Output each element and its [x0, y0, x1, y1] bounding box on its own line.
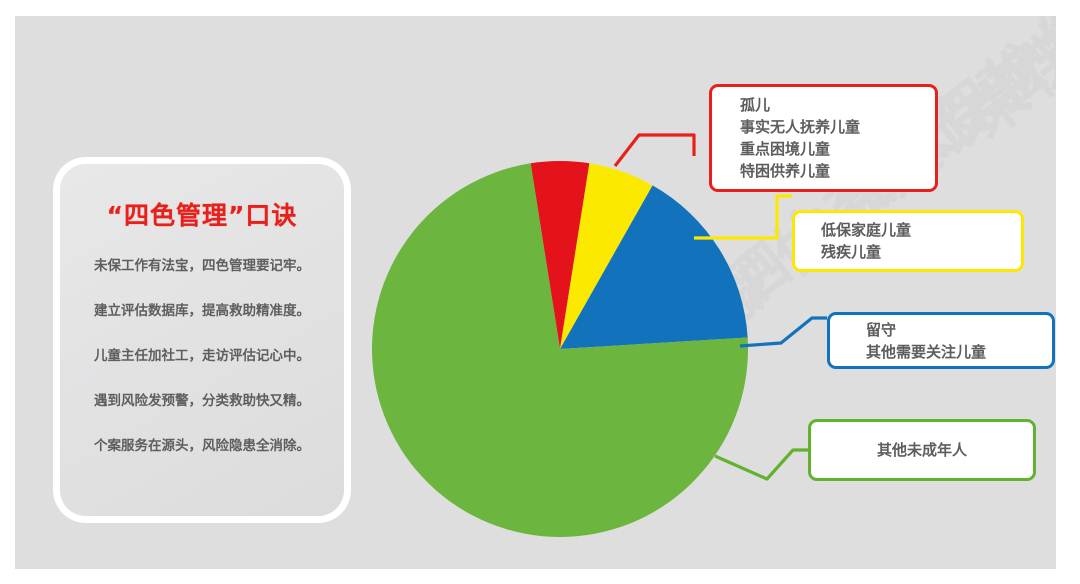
pie-slice-绿色[interactable]: 绿色（其他未成年人） — 73.5%: [372, 163, 748, 537]
panel-line: 个案服务在源头，风险隐患全消除。: [60, 436, 344, 456]
callout-red[interactable]: 孤儿 事实无人抚养儿童 重点困境儿童 特困供养儿童: [709, 84, 938, 192]
panel-line-list: 未保工作有法宝，四色管理要记牢。 建立评估数据库，提高救助精准度。 儿童主任加社…: [60, 256, 344, 481]
callout-blue-line: 其他需要关注儿童: [866, 341, 1052, 363]
pie-slice-黄色[interactable]: 黄色（低保家庭儿童 / 残疾儿童） — 5.7%: [560, 163, 653, 349]
pie-slice-红色[interactable]: 红色（孤儿 / 事实无人抚养儿童 / 重点困境儿童 / 特困供养儿童） — 5.…: [531, 161, 590, 349]
callout-red-line: 重点困境儿童: [740, 138, 935, 160]
callout-yellow-line: 残疾儿童: [821, 241, 1021, 263]
slide-root: 未保护体系建设验收 泗水县未保护体系 验收 未保护 体系 “四色管理”口诀 未保…: [0, 0, 1080, 584]
mnemonic-panel: “四色管理”口诀 未保工作有法宝，四色管理要记牢。 建立评估数据库，提高救助精准…: [60, 164, 344, 516]
leader-line-blue: [740, 318, 827, 346]
callout-green[interactable]: 其他未成年人: [808, 419, 1036, 481]
callout-red-line: 事实无人抚养儿童: [740, 116, 935, 138]
panel-line: 建立评估数据库，提高救助精准度。: [60, 301, 344, 321]
callout-yellow-line: 低保家庭儿童: [821, 219, 1021, 241]
callout-red-line: 孤儿: [740, 94, 935, 116]
callout-yellow[interactable]: 低保家庭儿童 残疾儿童: [792, 210, 1024, 272]
callout-blue-line: 留守: [866, 319, 1052, 341]
panel-line: 遇到风险发预警，分类救助快又精。: [60, 391, 344, 411]
panel-line: 未保工作有法宝，四色管理要记牢。: [60, 256, 344, 276]
callout-blue[interactable]: 留守 其他需要关注儿童: [827, 312, 1055, 369]
pie-slice-group: 红色（孤儿 / 事实无人抚养儿童 / 重点困境儿童 / 特困供养儿童） — 5.…: [372, 161, 748, 537]
callout-red-line: 特困供养儿童: [740, 160, 935, 182]
panel-title: “四色管理”口诀: [60, 196, 344, 232]
pie-slice-蓝色[interactable]: 蓝色（留守 / 其他需要关注儿童） — 15.8%: [560, 185, 748, 349]
panel-line: 儿童主任加社工，走访评估记心中。: [60, 346, 344, 366]
leader-line-green: [715, 450, 808, 479]
slide-canvas: 未保护体系建设验收 泗水县未保护体系 验收 未保护 体系 “四色管理”口诀 未保…: [15, 16, 1056, 569]
watermark-text: 未保护: [945, 16, 1056, 155]
leader-line-yellow: [694, 196, 792, 238]
watermark-text: 体系: [495, 365, 653, 515]
callout-green-line: 其他未成年人: [877, 439, 967, 461]
leader-line-red: [615, 135, 694, 166]
